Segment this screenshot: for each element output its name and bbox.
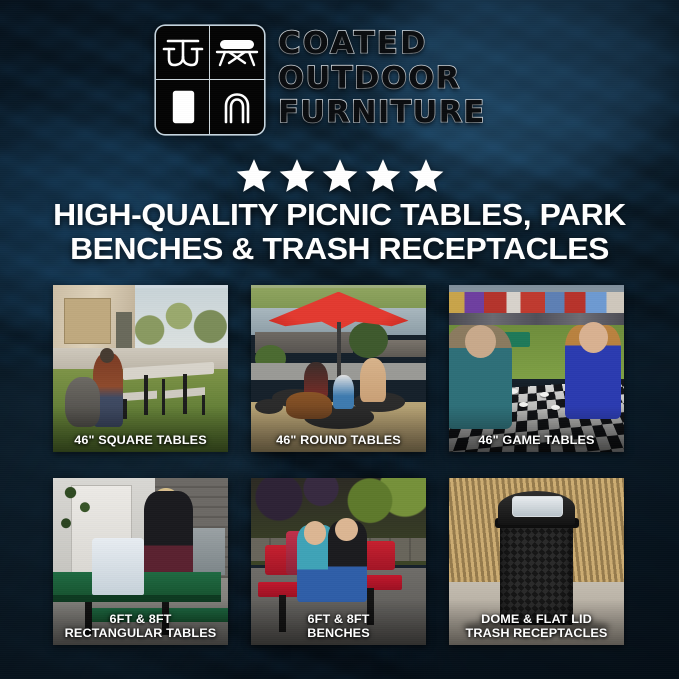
brand-line-1: COATED (278, 27, 486, 61)
product-tile-benches[interactable]: 6FT & 8FT BENCHES (251, 478, 426, 645)
tile-caption: 46" ROUND TABLES (251, 434, 426, 447)
arch-bike-rack-icon (210, 80, 264, 134)
headline-line-2: BENCHES & TRASH RECEPTACLES (10, 232, 669, 266)
tile-caption: DOME & FLAT LID TRASH RECEPTACLES (449, 613, 624, 640)
product-tile-game-tables[interactable]: 46" GAME TABLES (449, 285, 624, 452)
rating-stars (0, 158, 679, 193)
product-poster: COATED OUTDOOR FURNITURE HIGH-QUALITY PI… (0, 0, 679, 679)
brand-line-3: FURNITURE (278, 96, 486, 130)
star-icon (365, 158, 401, 193)
product-tile-rectangular-tables[interactable]: 6FT & 8FT RECTANGULAR TABLES (53, 478, 228, 645)
star-icon (279, 158, 315, 193)
headline-line-1: HIGH-QUALITY PICNIC TABLES, PARK (10, 198, 669, 232)
caption-line: 46" SQUARE TABLES (53, 434, 228, 447)
tile-caption: 6FT & 8FT BENCHES (251, 613, 426, 640)
star-icon (236, 158, 272, 193)
star-icon (322, 158, 358, 193)
caption-line: TRASH RECEPTACLES (449, 627, 624, 640)
caption-line: 46" GAME TABLES (449, 434, 624, 447)
product-tile-trash-receptacles[interactable]: DOME & FLAT LID TRASH RECEPTACLES (449, 478, 624, 645)
caption-line: RECTANGULAR TABLES (53, 627, 228, 640)
caption-line: 6FT & 8FT (53, 613, 228, 626)
brand-wordmark: COATED OUTDOOR FURNITURE (278, 26, 481, 130)
tile-caption: 46" SQUARE TABLES (53, 434, 228, 447)
tile-caption: 6FT & 8FT RECTANGULAR TABLES (53, 613, 228, 640)
star-icon (408, 158, 444, 193)
product-tile-square-tables[interactable]: 46" SQUARE TABLES (53, 285, 228, 452)
page-title: HIGH-QUALITY PICNIC TABLES, PARK BENCHES… (24, 198, 655, 266)
picnic-table-icon (156, 26, 210, 80)
caption-line: DOME & FLAT LID (449, 613, 624, 626)
product-tile-grid: 46" SQUARE TABLES (53, 285, 624, 645)
caption-line: 46" ROUND TABLES (251, 434, 426, 447)
caption-line: 6FT & 8FT (251, 613, 426, 626)
bench-icon (210, 26, 264, 80)
brand-line-2: OUTDOOR (278, 62, 486, 96)
trash-receptacle-icon (156, 80, 210, 134)
logo-icon-grid (156, 26, 264, 134)
tile-caption: 46" GAME TABLES (449, 434, 624, 447)
brand-logo: COATED OUTDOOR FURNITURE (156, 26, 536, 150)
product-tile-round-tables[interactable]: 46" ROUND TABLES (251, 285, 426, 452)
caption-line: BENCHES (251, 627, 426, 640)
